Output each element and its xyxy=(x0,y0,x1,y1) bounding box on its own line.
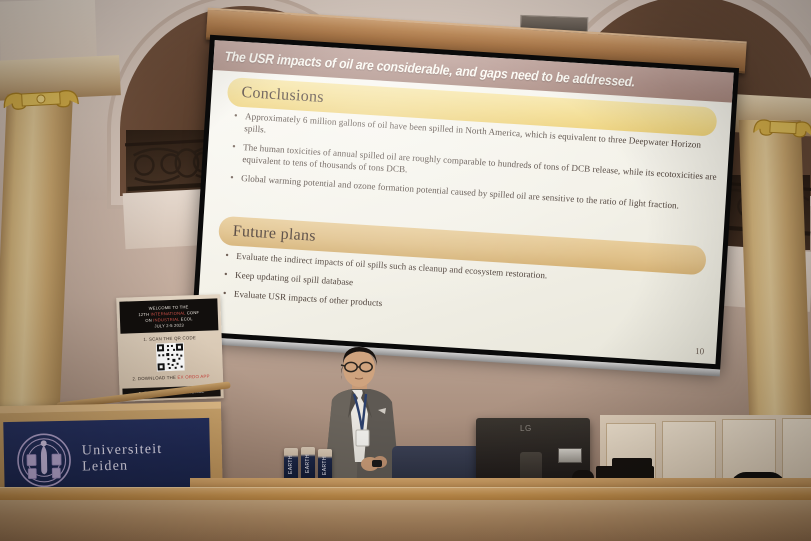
poster-line2-c: CONF xyxy=(187,309,200,314)
bottle-label: EARTH xyxy=(322,461,328,475)
slide-page-number: 10 xyxy=(695,346,705,357)
poster-step-1: 1. SCAN THE QR CODE xyxy=(118,334,222,343)
pilaster-column-right xyxy=(739,120,811,420)
poster-step2-prefix: 2. DOWNLOAD THE xyxy=(132,375,176,382)
bullet-text: Keep updating oil spill database xyxy=(235,269,354,289)
poster-line2-a: 12TH xyxy=(138,311,149,316)
leiden-university-seal-icon xyxy=(15,432,72,489)
gold-ionic-capital-right-icon xyxy=(751,114,811,143)
lecture-hall-photo: The USR impacts of oil are considerable,… xyxy=(0,0,811,541)
poster-line3-c: ECOL xyxy=(181,316,193,321)
monitor-spec-sticker xyxy=(558,448,582,463)
poster-line3-a: ON xyxy=(145,317,152,322)
gold-ionic-capital-left-icon xyxy=(1,84,80,116)
screen-frame: The USR impacts of oil are considerable,… xyxy=(191,35,739,370)
stage-front-panel xyxy=(0,500,811,541)
poster-line3-b: INDUSTRIAL xyxy=(153,316,179,322)
poster-step2-app: EX ORDO APP xyxy=(177,374,209,380)
av-equipment xyxy=(612,458,652,468)
poster-step-2: 2. DOWNLOAD THE EX ORDO APP xyxy=(119,373,223,382)
conclusions-heading-text: Conclusions xyxy=(227,83,324,107)
bottle-label: EARTH xyxy=(288,460,294,474)
bullet-dot-icon: • xyxy=(224,268,236,282)
presentation-slide: The USR impacts of oil are considerable,… xyxy=(196,40,733,364)
qr-code-icon xyxy=(156,343,185,372)
bullet-dot-icon: • xyxy=(230,171,242,185)
bullet-text: Evaluate USR impacts of other products xyxy=(233,288,382,310)
lectern-label: Universiteit Leiden xyxy=(82,441,211,476)
poster-header-block: WELCOME TO THE 12TH INTERNATIONAL CONF O… xyxy=(119,298,218,333)
bullet-dot-icon: • xyxy=(222,287,234,301)
projection-screen-assembly: The USR impacts of oil are considerable,… xyxy=(171,7,754,402)
future-plans-heading-text: Future plans xyxy=(218,221,316,245)
poster-line-3: ON INDUSTRIAL ECOL xyxy=(145,316,193,323)
bottle-label: EARTH xyxy=(305,459,311,473)
bullet-dot-icon: • xyxy=(225,249,237,263)
monitor-brand-label: LG xyxy=(520,424,532,433)
poster-date: JULY 2-5 2023 xyxy=(154,322,184,328)
